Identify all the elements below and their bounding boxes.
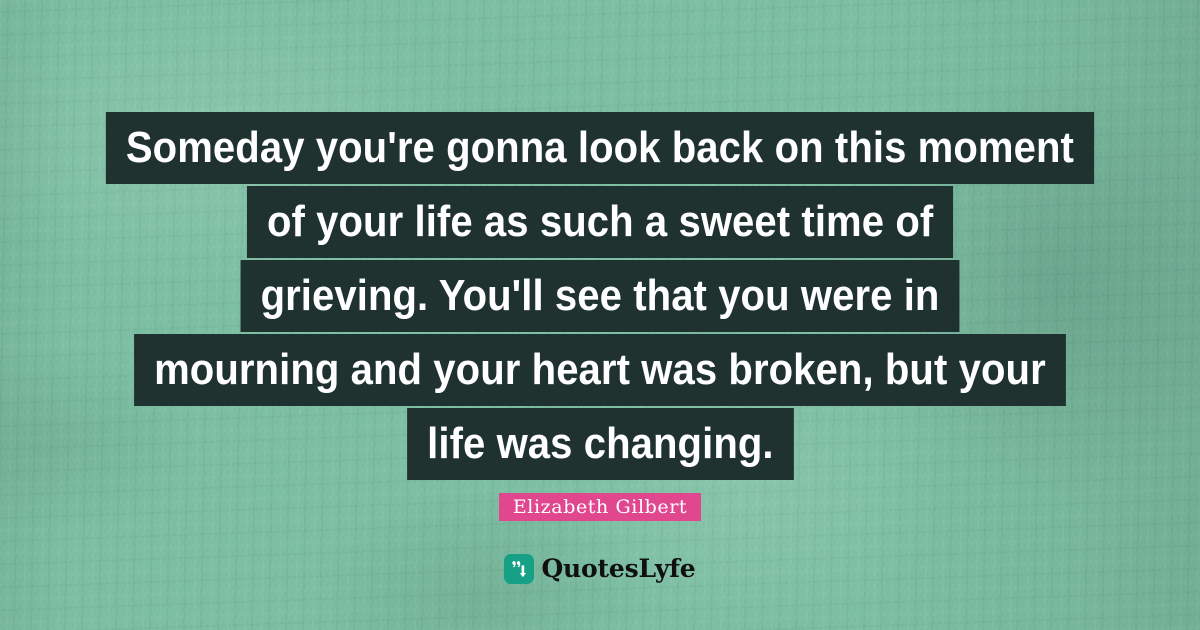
brand-logo: QuotesLyfe xyxy=(0,554,1200,584)
quote-poster: Someday you're gonna look back on this m… xyxy=(0,0,1200,630)
quote-line: life was changing. xyxy=(407,408,794,480)
quote-line: of your life as such a sweet time of xyxy=(247,186,953,258)
quote-mark-icon xyxy=(504,554,534,584)
quote-line: Someday you're gonna look back on this m… xyxy=(106,112,1094,184)
brand-name: QuotesLyfe xyxy=(541,554,695,584)
quote-line: grieving. You'll see that you were in xyxy=(241,260,960,332)
quote-text-block: Someday you're gonna look back on this m… xyxy=(0,112,1200,482)
author-attribution: Elizabeth Gilbert xyxy=(0,493,1200,521)
quote-line: mourning and your heart was broken, but … xyxy=(134,334,1066,406)
author-name-badge: Elizabeth Gilbert xyxy=(499,493,701,521)
